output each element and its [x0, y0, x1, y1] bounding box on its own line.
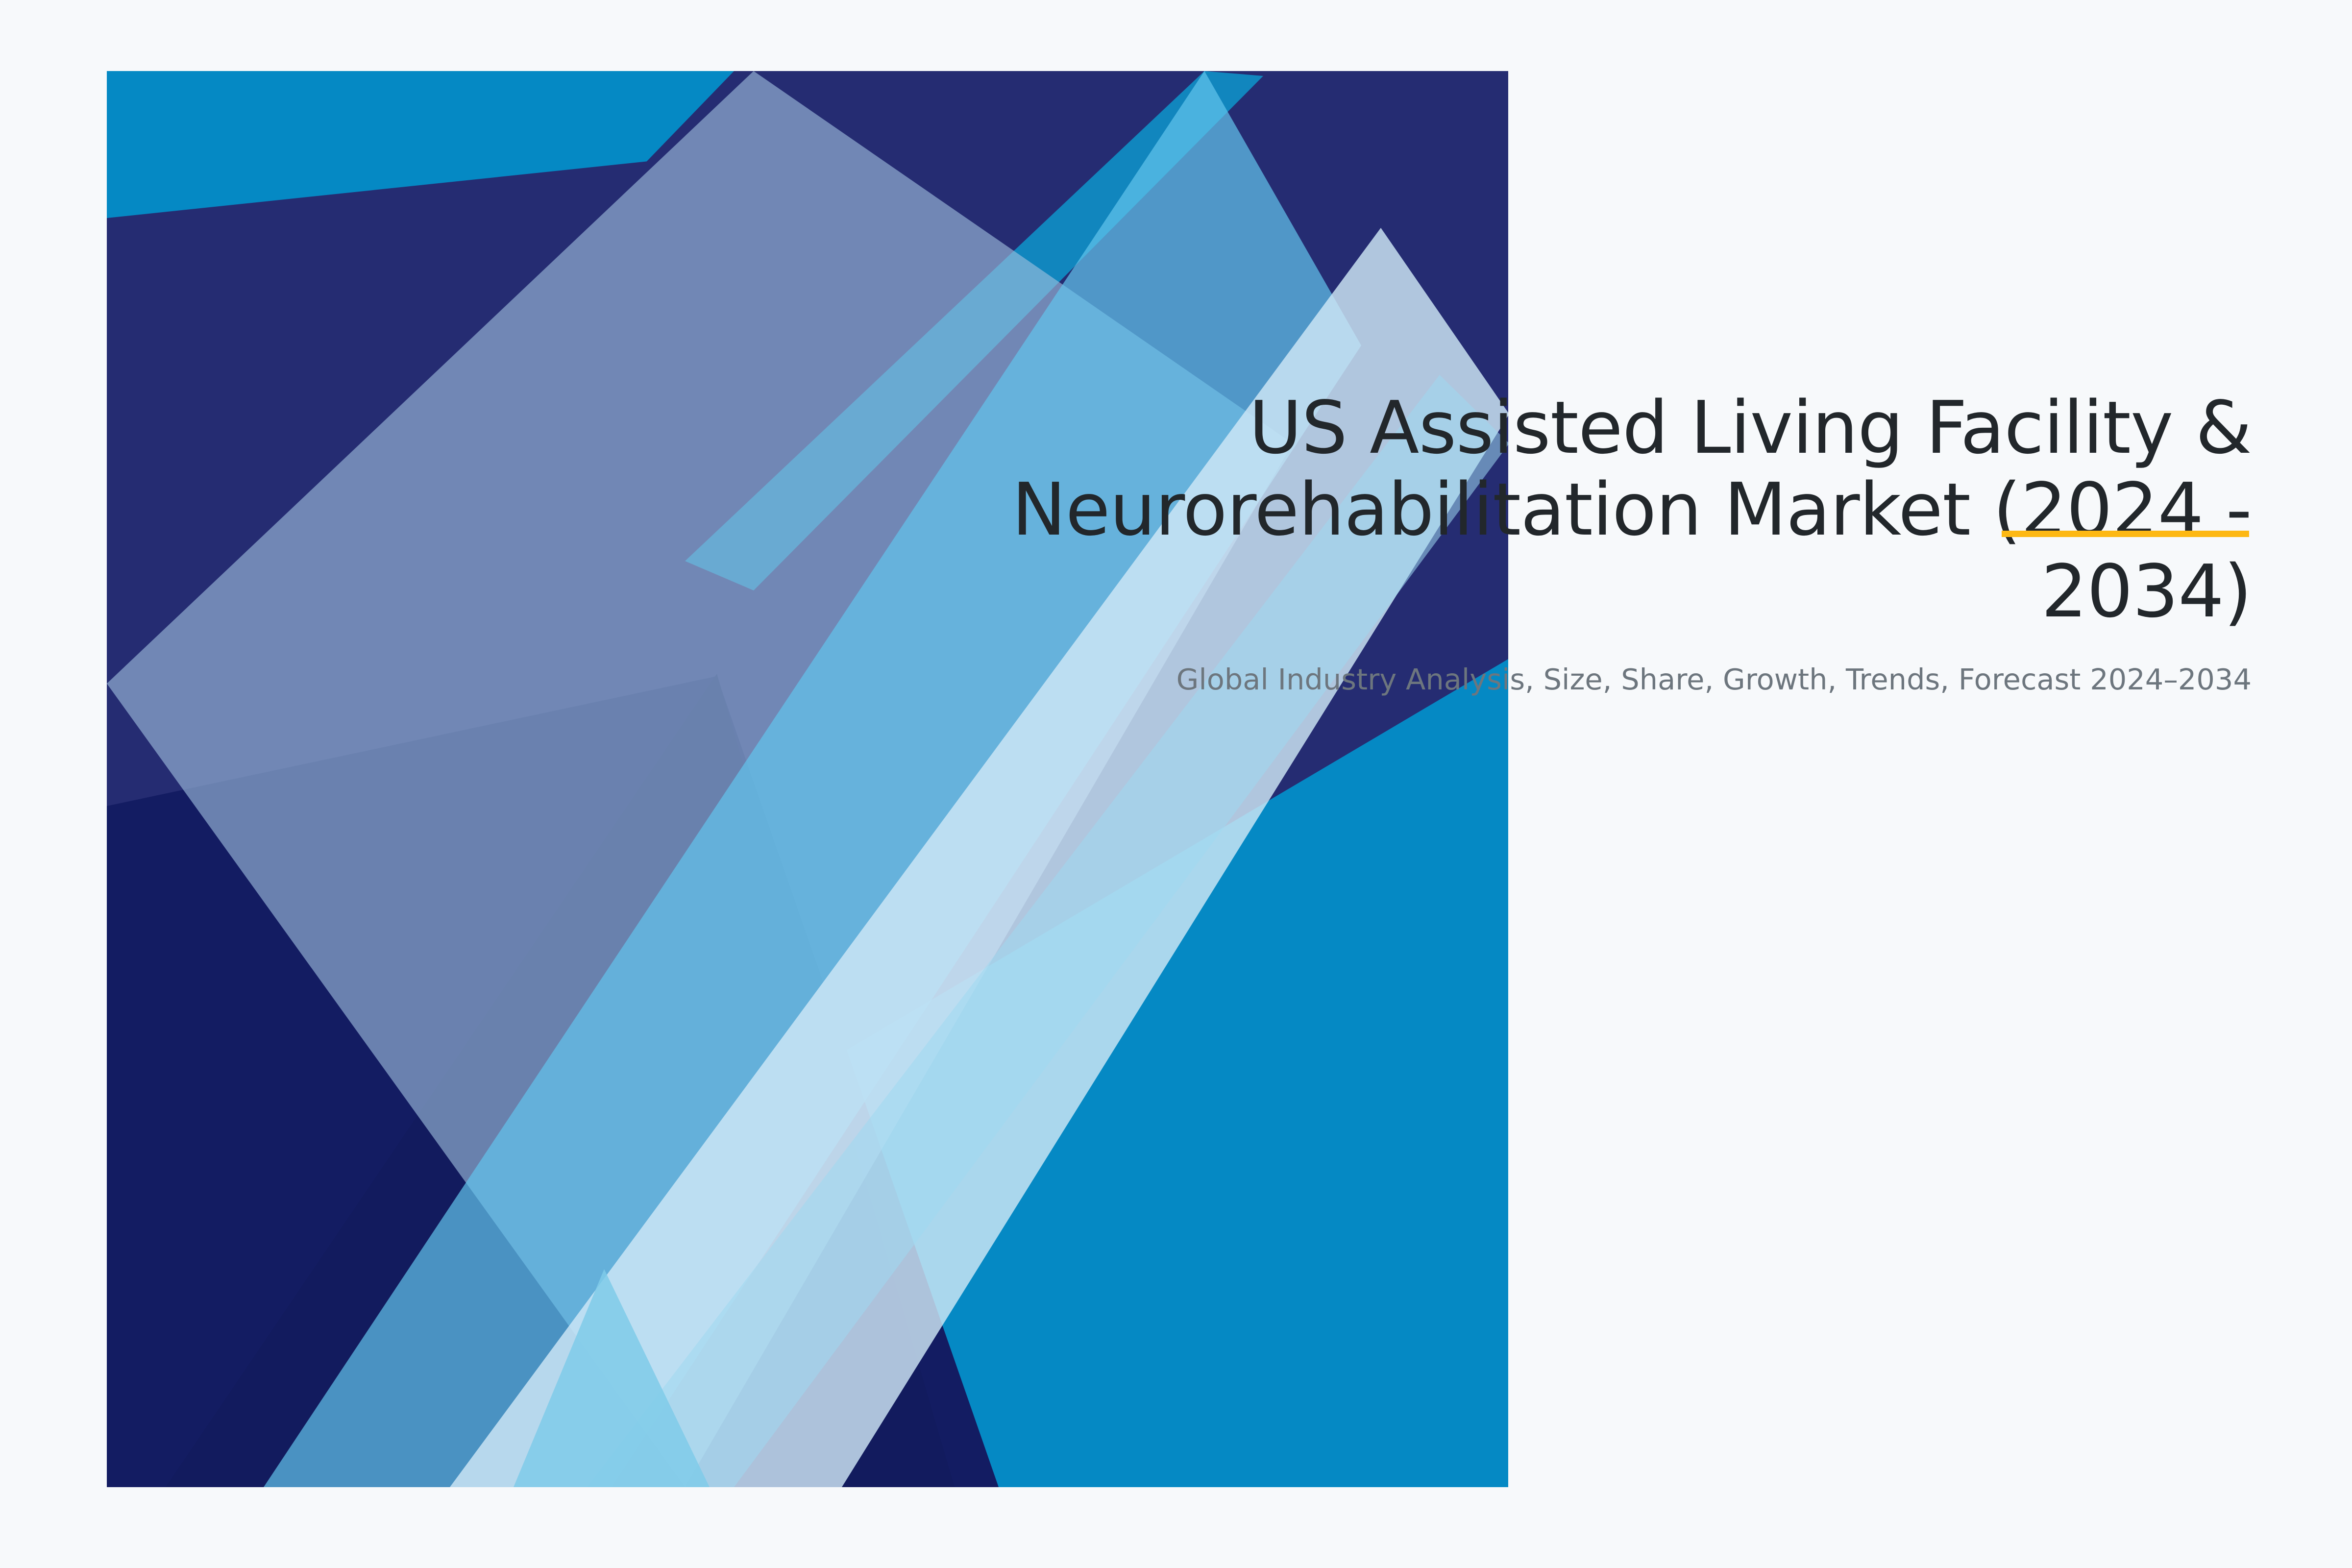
accent-underline-bar [2002, 531, 2249, 537]
title-slide: US Assisted Living Facility & Neurorehab… [0, 0, 2352, 1568]
abstract-geometric-artwork [107, 71, 1508, 1487]
page-title: US Assisted Living Facility & Neurorehab… [931, 387, 2252, 633]
page-subtitle: Global Industry Analysis, Size, Share, G… [931, 661, 2252, 699]
title-text-block: US Assisted Living Facility & Neurorehab… [931, 387, 2252, 699]
artwork-svg [107, 71, 1508, 1487]
